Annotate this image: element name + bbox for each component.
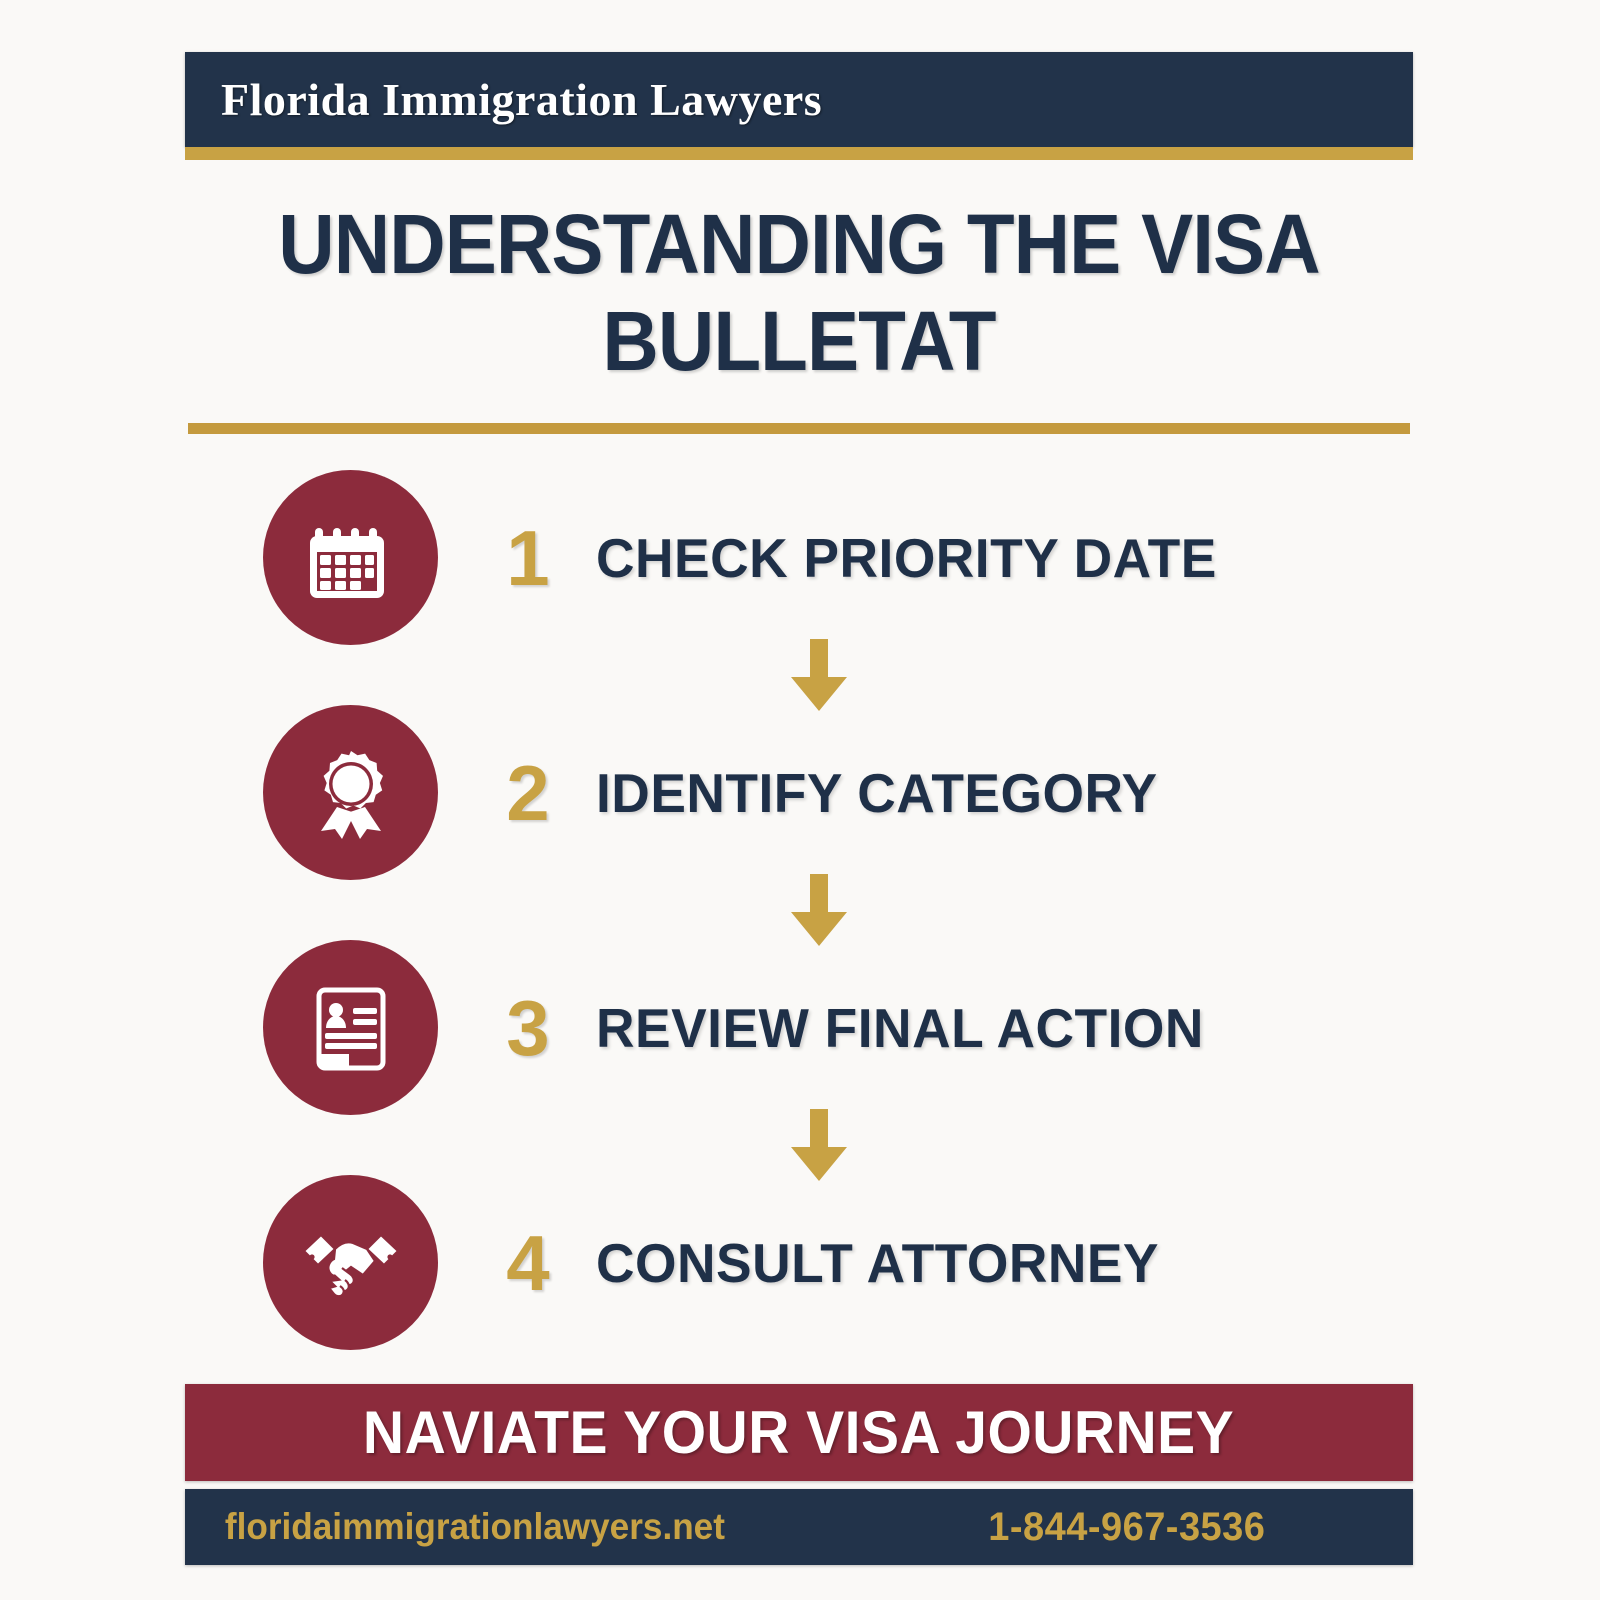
id-document-icon	[303, 980, 399, 1076]
connector-2	[185, 880, 1413, 940]
step-row-2: 2 IDENTIFY CATEGORY	[185, 705, 1413, 880]
title-gold-divider	[188, 423, 1410, 434]
step-3-number: 3	[500, 989, 556, 1067]
page-title-line-1: UNDERSTANDING THE VISA	[228, 196, 1370, 293]
step-4-label: CONSULT ATTORNEY	[596, 1231, 1159, 1295]
step-2-label: IDENTIFY CATEGORY	[596, 761, 1158, 825]
handshake-icon	[301, 1223, 401, 1303]
brand-gold-underline	[185, 147, 1413, 160]
infographic-poster: Florida Immigration Lawyers UNDERSTANDIN…	[0, 0, 1600, 1600]
step-1-icon-circle	[263, 470, 438, 645]
cta-banner: NAVIATE YOUR VISA JOURNEY	[185, 1384, 1413, 1481]
connector-1	[185, 645, 1413, 705]
step-4-number: 4	[500, 1224, 556, 1302]
step-4-icon-circle	[263, 1175, 438, 1350]
footer-website[interactable]: floridaimmigrationlawyers.net	[185, 1506, 725, 1548]
step-row-3: 3 REVIEW FINAL ACTION	[185, 940, 1413, 1115]
step-2-icon-circle	[263, 705, 438, 880]
step-3-label: REVIEW FINAL ACTION	[596, 996, 1204, 1060]
connector-3	[185, 1115, 1413, 1175]
calendar-icon	[303, 510, 399, 606]
footer-phone[interactable]: 1-844-967-3536	[989, 1505, 1266, 1550]
award-ribbon-icon	[303, 745, 399, 841]
brand-header-bar: Florida Immigration Lawyers	[185, 52, 1413, 147]
cta-text: NAVIATE YOUR VISA JOURNEY	[363, 1398, 1234, 1467]
step-1-number: 1	[500, 519, 556, 597]
step-2-number: 2	[500, 754, 556, 832]
page-title-line-2: BULLETAT	[228, 293, 1370, 390]
brand-name: Florida Immigration Lawyers	[185, 73, 822, 126]
steps-list: 1 CHECK PRIORITY DATE	[185, 470, 1413, 1350]
step-1-label: CHECK PRIORITY DATE	[596, 526, 1217, 590]
page-title: UNDERSTANDING THE VISA BULLETAT	[185, 196, 1413, 391]
step-3-icon-circle	[263, 940, 438, 1115]
footer-bar: floridaimmigrationlawyers.net 1-844-967-…	[185, 1489, 1413, 1565]
step-row-1: 1 CHECK PRIORITY DATE	[185, 470, 1413, 645]
step-row-4: 4 CONSULT ATTORNEY	[185, 1175, 1413, 1350]
